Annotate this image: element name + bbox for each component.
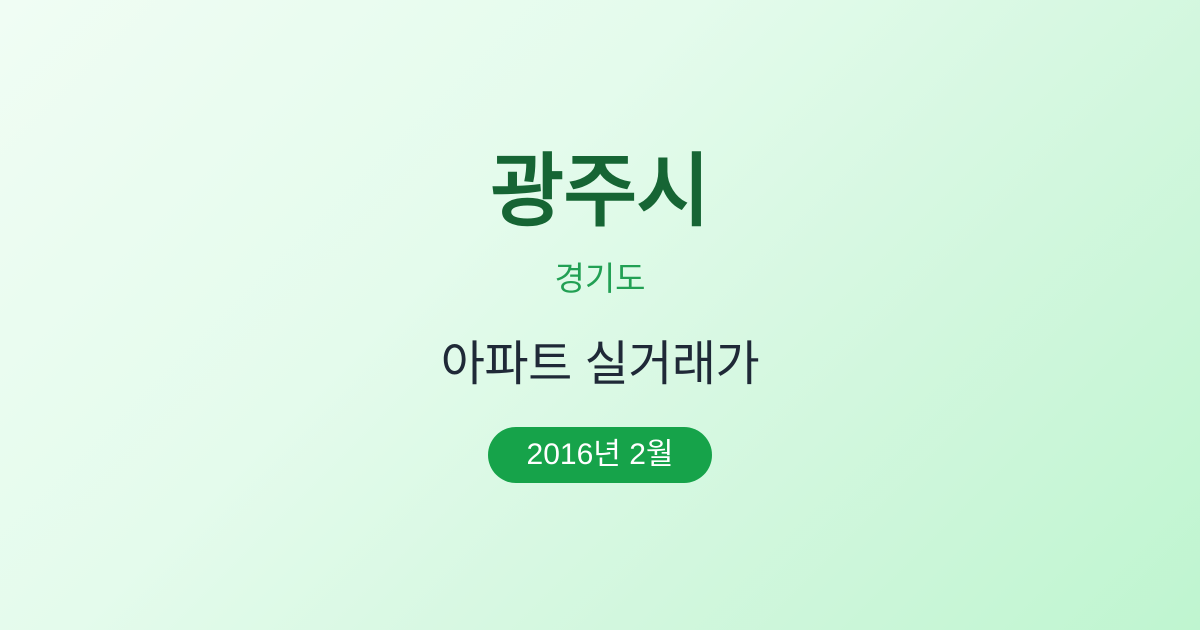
page-title: 광주시 [0, 152, 1200, 232]
status-badge-period: 2016년 2월 [488, 427, 712, 483]
province-subtitle: 경기도 [0, 262, 1200, 295]
og-preview-card: 광주시 경기도 아파트 실거래가 2016년 2월 [0, 0, 1200, 630]
period-badge-row: 2016년 2월 [0, 427, 1200, 483]
dataset-title: 아파트 실거래가 [0, 341, 1200, 389]
